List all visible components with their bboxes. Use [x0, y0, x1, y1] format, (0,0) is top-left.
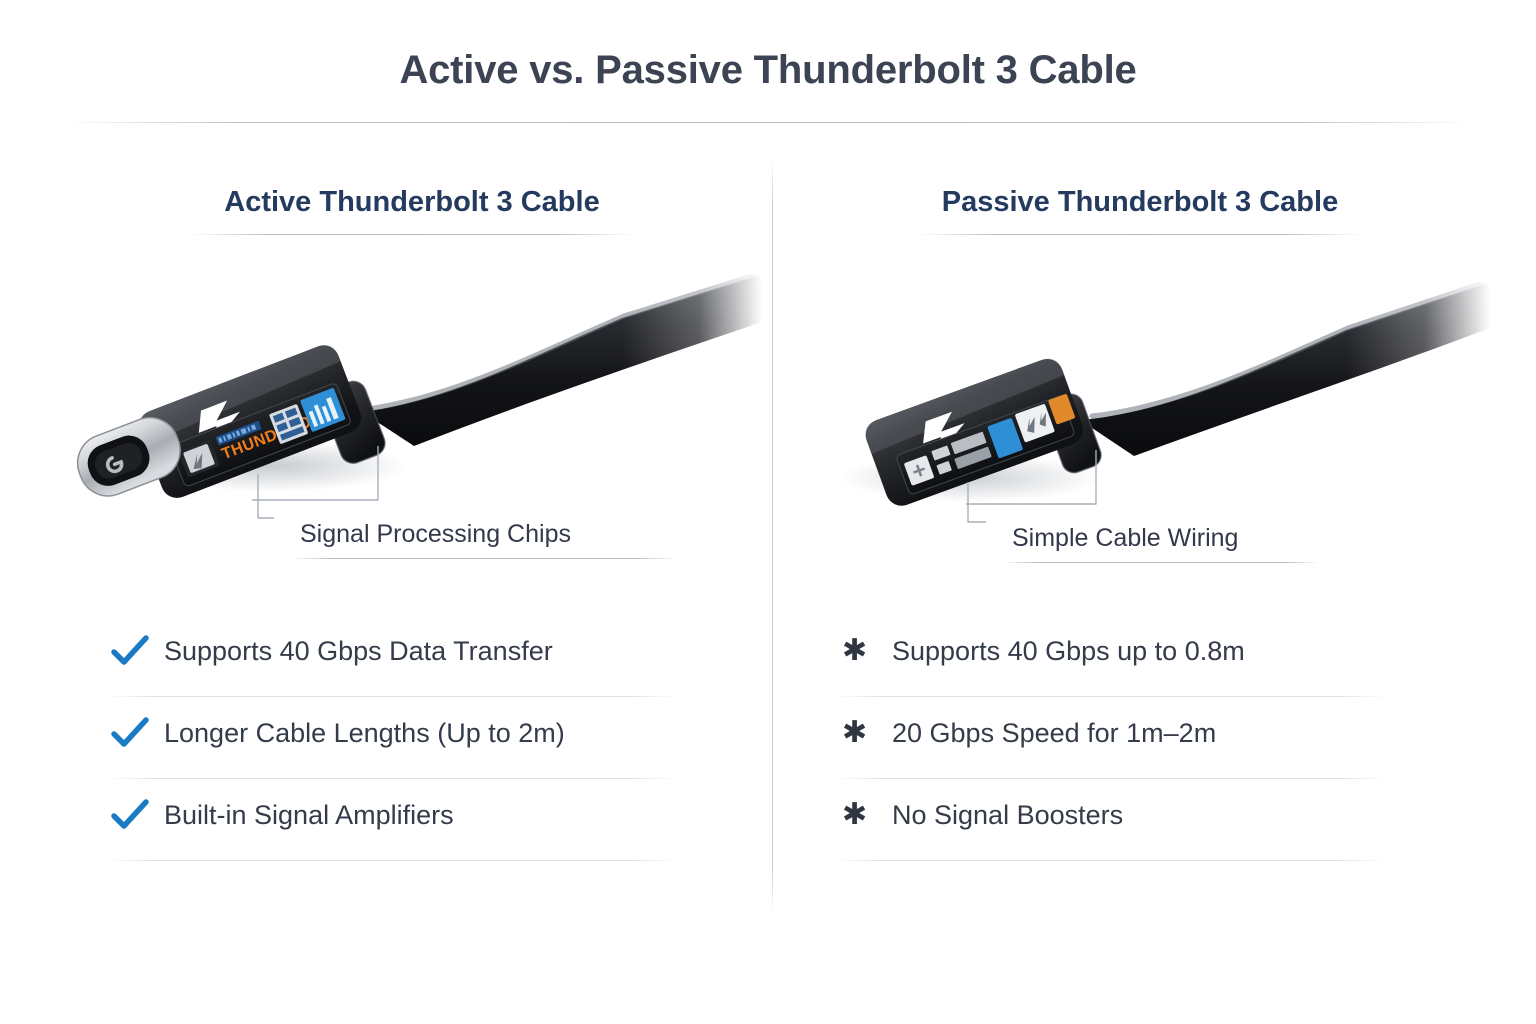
- check-icon: [110, 798, 164, 832]
- column-title-passive: Passive Thunderbolt 3 Cable: [790, 186, 1490, 219]
- feature-text: Supports 40 Gbps Data Transfer: [164, 636, 553, 667]
- feature-text: Built-in Signal Amplifiers: [164, 800, 454, 831]
- list-item[interactable]: ✱ 20 Gbps Speed for 1m–2m: [838, 697, 1438, 779]
- asterisk-icon: ✱: [838, 636, 892, 666]
- asterisk-icon: ✱: [838, 718, 892, 748]
- feature-text: 20 Gbps Speed for 1m–2m: [892, 718, 1216, 749]
- column-title-underline-passive: [918, 234, 1362, 235]
- check-icon: [110, 634, 164, 668]
- cable-illustration-passive: [790, 260, 1490, 560]
- list-item[interactable]: Built-in Signal Amplifiers: [110, 779, 710, 861]
- feature-text: Longer Cable Lengths (Up to 2m): [164, 718, 565, 749]
- list-item[interactable]: ✱ No Signal Boosters: [838, 779, 1438, 861]
- list-item-divider: [838, 860, 1383, 861]
- column-title-underline-active: [190, 234, 634, 235]
- list-item-divider: [110, 860, 675, 861]
- feature-text: No Signal Boosters: [892, 800, 1123, 831]
- column-divider: [772, 160, 773, 912]
- header-divider: [64, 122, 1472, 123]
- callout-label-active: Signal Processing Chips: [300, 520, 571, 549]
- cable-illustration-active: THUNDEROLD: [62, 260, 762, 560]
- page-title: Active vs. Passive Thunderbolt 3 Cable: [0, 48, 1536, 93]
- column-active: Active Thunderbolt 3 Cable: [62, 160, 762, 920]
- list-item[interactable]: Longer Cable Lengths (Up to 2m): [110, 697, 710, 779]
- asterisk-icon: ✱: [838, 800, 892, 830]
- column-title-active: Active Thunderbolt 3 Cable: [62, 186, 762, 219]
- list-item[interactable]: ✱ Supports 40 Gbps up to 0.8m: [838, 615, 1438, 697]
- feature-text: Supports 40 Gbps up to 0.8m: [892, 636, 1245, 667]
- callout-underline-passive: [1006, 562, 1316, 563]
- callout-label-passive: Simple Cable Wiring: [1012, 524, 1238, 553]
- callout-underline-active: [294, 558, 674, 559]
- check-icon: [110, 716, 164, 750]
- feature-list-passive: ✱ Supports 40 Gbps up to 0.8m ✱ 20 Gbps …: [838, 615, 1438, 861]
- list-item[interactable]: Supports 40 Gbps Data Transfer: [110, 615, 710, 697]
- column-passive: Passive Thunderbolt 3 Cable: [790, 160, 1490, 920]
- feature-list-active: Supports 40 Gbps Data Transfer Longer Ca…: [110, 615, 710, 861]
